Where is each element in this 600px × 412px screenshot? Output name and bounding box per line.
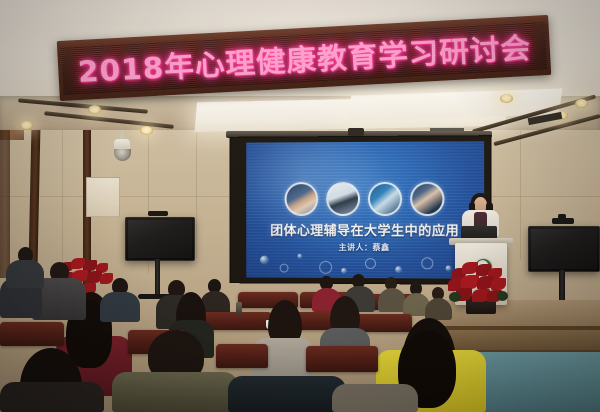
right-display-camera-lens-icon [558, 214, 566, 219]
projection-screen-knob [348, 128, 364, 136]
right-display-panel [531, 229, 597, 269]
slide-bubble [421, 257, 433, 269]
ceiling-spotlight [20, 121, 33, 130]
person-torso [378, 288, 406, 312]
projection-screen: 团体心理辅导在大学生中的应用 主讲人：蔡鑫 [230, 135, 492, 285]
left-display-stand [155, 259, 160, 295]
slide-title: 团体心理辅导在大学生中的应用 [246, 220, 484, 239]
person-torso [0, 382, 104, 412]
ceiling-spotlight [140, 126, 153, 135]
wall-seam [196, 118, 197, 258]
slide-bubble [297, 254, 302, 259]
person-torso [6, 260, 44, 288]
left-display-camera-icon [148, 211, 168, 216]
left-display-screen [125, 217, 195, 261]
right-display-screen [528, 226, 600, 272]
person-torso [100, 292, 140, 322]
flower-petal [491, 278, 506, 290]
person-torso [112, 372, 238, 412]
slide-bubble [319, 261, 332, 274]
seat-row [0, 322, 64, 346]
slide-bubble [365, 258, 376, 269]
photo-circle-2-icon [326, 182, 360, 216]
ceiling-spotlight [88, 105, 101, 114]
slide-bubble [260, 256, 269, 265]
person-torso [332, 384, 418, 412]
wall-seam [62, 130, 63, 270]
wall-seam [520, 120, 521, 260]
slide-photo-circles [246, 182, 484, 216]
left-display-panel [128, 220, 192, 258]
slide-bubble [446, 265, 452, 271]
photo-circle-1-icon [285, 182, 319, 216]
slide-bubble [280, 264, 289, 273]
wood-column [0, 128, 10, 278]
wall-panel-box [86, 177, 120, 217]
photo-circle-4-icon [410, 182, 444, 216]
auditorium-photo: 2018年心理健康教育学习研讨会 团体心理辅导在大学生中的应用 主讲人：蔡鑫 [0, 0, 600, 412]
flower-petal [71, 258, 85, 269]
camera-mount [120, 130, 124, 139]
flower-petal [100, 273, 113, 284]
seat-row [306, 346, 378, 372]
photo-circle-3-icon [368, 182, 402, 216]
person-torso [425, 298, 452, 320]
seat-row [216, 344, 268, 368]
stage-front-face [430, 330, 600, 352]
ceiling-spotlight [500, 94, 513, 103]
ceiling-spotlight [575, 99, 588, 108]
person-torso [228, 376, 346, 412]
slide-bubble [341, 268, 347, 274]
water-bottle [236, 302, 242, 315]
slide-bubble [395, 266, 402, 273]
flower-greenery [449, 292, 461, 302]
flower-greenery [497, 291, 508, 301]
presentation-slide: 团体心理辅导在大学生中的应用 主讲人：蔡鑫 [246, 141, 484, 278]
